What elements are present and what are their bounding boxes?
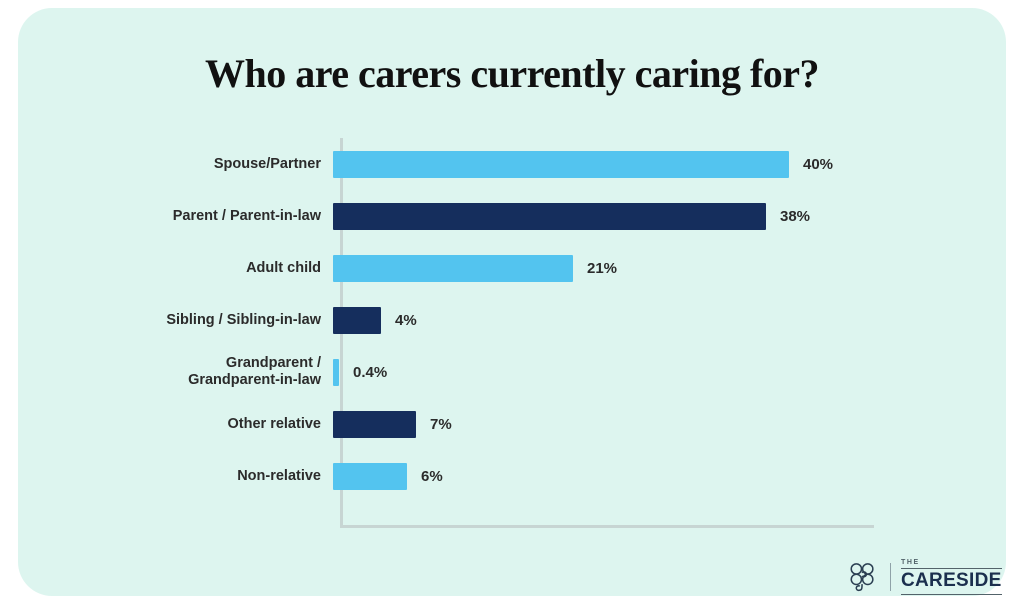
- logo-wordmark: THE CARESIDE: [901, 559, 1002, 595]
- chart-bar-row: Parent / Parent-in-law38%: [158, 190, 898, 242]
- bar-category-label: Grandparent / Grandparent-in-law: [158, 355, 333, 389]
- bar-category-label: Adult child: [158, 260, 333, 277]
- bar-value-label: 7%: [430, 416, 452, 433]
- chart-bar-row: Spouse/Partner40%: [158, 138, 898, 190]
- clover-icon: [846, 559, 880, 595]
- bar-category-label: Sibling / Sibling-in-law: [158, 312, 333, 329]
- chart-bar-row: Sibling / Sibling-in-law4%: [158, 294, 898, 346]
- chart-card: Who are carers currently caring for? Spo…: [18, 8, 1006, 596]
- logo-name: CARESIDE: [901, 571, 1002, 591]
- logo-divider: [890, 563, 891, 591]
- chart-bar-row: Other relative7%: [158, 398, 898, 450]
- chart-bar-row: Grandparent / Grandparent-in-law0.4%: [158, 346, 898, 398]
- bar-rows: Spouse/Partner40%Parent / Parent-in-law3…: [158, 138, 898, 502]
- chart-bar: [333, 255, 573, 282]
- bar-category-label: Non-relative: [158, 468, 333, 485]
- bar-value-label: 21%: [587, 260, 617, 277]
- chart-bar-row: Non-relative6%: [158, 450, 898, 502]
- bar-category-label: Other relative: [158, 416, 333, 433]
- chart-bar: [333, 151, 789, 178]
- chart-bar-row: Adult child21%: [158, 242, 898, 294]
- logo-eyebrow: THE: [901, 559, 1002, 567]
- x-axis-line: [340, 525, 874, 528]
- bar-track: 38%: [333, 190, 898, 242]
- bar-track: 4%: [333, 294, 898, 346]
- chart-bar: [333, 307, 381, 334]
- bar-category-label: Parent / Parent-in-law: [158, 208, 333, 225]
- bar-track: 6%: [333, 450, 898, 502]
- bar-value-label: 38%: [780, 208, 810, 225]
- bar-track: 7%: [333, 398, 898, 450]
- chart-bar: [333, 203, 766, 230]
- chart-plot-area: Spouse/Partner40%Parent / Parent-in-law3…: [158, 138, 898, 533]
- bar-value-label: 4%: [395, 312, 417, 329]
- bar-category-label: Spouse/Partner: [158, 156, 333, 173]
- bar-track: 40%: [333, 138, 898, 190]
- brand-logo: THE CARESIDE: [846, 557, 1002, 597]
- chart-bar: [333, 463, 407, 490]
- chart-bar: [333, 411, 416, 438]
- logo-rule-top: [901, 568, 1002, 569]
- bar-value-label: 0.4%: [353, 364, 387, 381]
- bar-track: 21%: [333, 242, 898, 294]
- bar-track: 0.4%: [333, 346, 898, 398]
- chart-bar: [333, 359, 339, 386]
- chart-title: Who are carers currently caring for?: [18, 50, 1006, 97]
- bar-value-label: 40%: [803, 156, 833, 173]
- screenshot-root: Who are carers currently caring for? Spo…: [0, 0, 1024, 614]
- bar-value-label: 6%: [421, 468, 443, 485]
- logo-rule-bottom: [901, 594, 1002, 595]
